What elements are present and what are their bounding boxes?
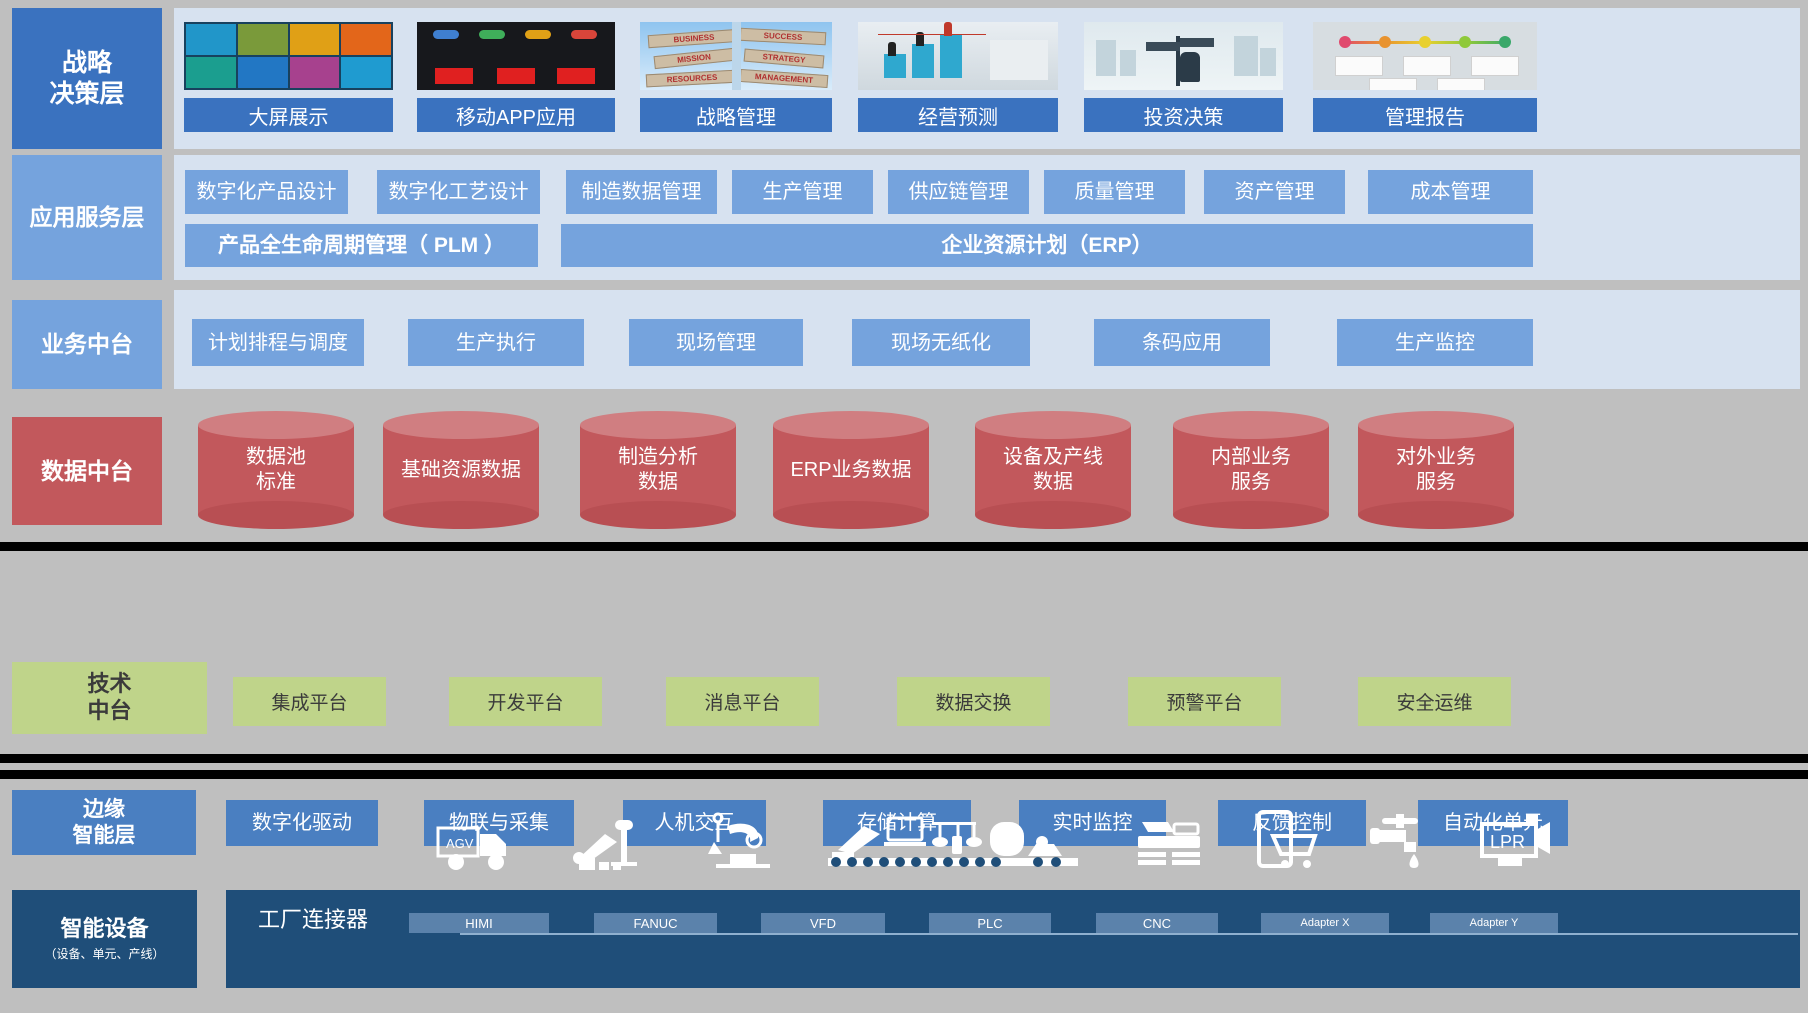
dark-dashboard-icon (417, 22, 615, 90)
signpost-sky-icon: BUSINESS SUCCESS MISSION STRATEGY RESOUR… (640, 22, 832, 90)
water-tap-icon (1370, 812, 1440, 875)
device-tab-cnc[interactable]: CNC (1096, 913, 1218, 933)
layer-label-strategy-line2: 决策层 (49, 80, 124, 108)
cyl1-l1: 基础资源数据 (401, 459, 521, 481)
data-cylinder-1-label: 基础资源数据 (383, 411, 539, 529)
strategy-card-1-label: 移动APP应用 (417, 98, 615, 132)
business-module-1[interactable]: 生产执行 (408, 319, 584, 366)
layer-label-tech-line2: 中台 (87, 698, 131, 723)
layer-label-device-sub: （设备、单元、产线） (44, 947, 164, 962)
data-cylinder-5-label: 内部业务 服务 (1173, 411, 1329, 529)
layer-label-device: 智能设备 （设备、单元、产线） (12, 890, 197, 988)
device-tab-vfd[interactable]: VFD (761, 913, 885, 933)
device-tab-plc[interactable]: PLC (929, 913, 1051, 933)
tech-module-1[interactable]: 开发平台 (449, 677, 602, 726)
data-cylinder-0[interactable]: 数据池 标准 (198, 411, 354, 529)
tech-module-0[interactable]: 集成平台 (233, 677, 386, 726)
edge-module-0[interactable]: 数字化驱动 (226, 800, 378, 846)
cyl2-l1: 制造分析 (618, 446, 698, 468)
data-cylinder-5[interactable]: 内部业务 服务 (1173, 411, 1329, 529)
business-module-5[interactable]: 生产监控 (1337, 319, 1533, 366)
device-tab-adapter-x[interactable]: Adapter X (1261, 913, 1389, 933)
application-module-3[interactable]: 生产管理 (732, 170, 873, 214)
data-cylinder-1[interactable]: 基础资源数据 (383, 411, 539, 529)
layer-label-tech: 技术 中台 (12, 662, 207, 734)
cyl4-l1: 设备及产线 (1003, 446, 1103, 468)
svg-text:LPR: LPR (1490, 832, 1525, 852)
layer-label-business: 业务中台 (12, 300, 162, 389)
layer-label-strategy-line1: 战略 (62, 49, 112, 77)
agv-truck-icon: AGV (436, 818, 518, 875)
business-module-2[interactable]: 现场管理 (629, 319, 803, 366)
application-module-7[interactable]: 成本管理 (1368, 170, 1533, 214)
production-line-icon (828, 808, 1080, 881)
device-tab-fanuc[interactable]: FANUC (594, 913, 717, 933)
strategy-card-4-label: 投资决策 (1084, 98, 1283, 132)
layer-label-edge-line2: 智能层 (73, 824, 136, 847)
welding-robot-icon (706, 812, 776, 879)
application-module-5[interactable]: 质量管理 (1044, 170, 1185, 214)
dashboard-tiles-icon (184, 22, 393, 90)
strategy-card-5-label: 管理报告 (1313, 98, 1537, 132)
layer-label-device-text: 智能设备 (60, 916, 148, 943)
roadmap-timeline-icon (1313, 22, 1537, 90)
cyl6-l1: 对外业务 (1396, 446, 1476, 468)
application-module-2[interactable]: 制造数据管理 (566, 170, 717, 214)
city-businessman-icon (1084, 22, 1283, 90)
application-module-0[interactable]: 数字化产品设计 (185, 170, 348, 214)
business-module-3[interactable]: 现场无纸化 (852, 319, 1030, 366)
cyl2-l2: 数据 (638, 471, 678, 493)
strategy-card-0-label: 大屏展示 (184, 98, 393, 132)
data-cylinder-6[interactable]: 对外业务 服务 (1358, 411, 1514, 529)
layer-label-tech-line1: 技术 (87, 671, 131, 696)
strategy-card-1[interactable]: 移动APP应用 (417, 22, 615, 132)
cyl0-l2: 标准 (256, 471, 296, 493)
tech-module-3[interactable]: 数据交换 (897, 677, 1050, 726)
layer-label-data: 数据中台 (12, 417, 162, 525)
application-module-6[interactable]: 资产管理 (1204, 170, 1345, 214)
business-module-0[interactable]: 计划排程与调度 (192, 319, 364, 366)
tech-module-2[interactable]: 消息平台 (666, 677, 819, 726)
application-platform-erp[interactable]: 企业资源计划（ERP） (561, 224, 1533, 267)
data-cylinder-3-label: ERP业务数据 (773, 411, 929, 529)
data-cylinder-4-label: 设备及产线 数据 (975, 411, 1131, 529)
cyl6-l2: 服务 (1416, 471, 1456, 493)
layer-label-data-text: 数据中台 (41, 457, 133, 485)
cyl5-l1: 内部业务 (1211, 446, 1291, 468)
strategy-card-3[interactable]: 经营预测 (858, 22, 1058, 132)
separator-top-edge (0, 770, 1808, 779)
separator-top-tech (0, 542, 1808, 551)
cyl0-l1: 数据池 (246, 446, 306, 468)
layer-label-edge: 边缘 智能层 (12, 790, 196, 855)
separator-bottom-tech (0, 754, 1808, 763)
data-cylinder-3[interactable]: ERP业务数据 (773, 411, 929, 529)
layer-label-strategy: 战略 决策层 (12, 8, 162, 149)
tech-module-5[interactable]: 安全运维 (1358, 677, 1511, 726)
application-module-4[interactable]: 供应链管理 (888, 170, 1029, 214)
application-module-1[interactable]: 数字化工艺设计 (377, 170, 540, 214)
mobile-cart-icon (1257, 810, 1323, 877)
strategy-card-2[interactable]: BUSINESS SUCCESS MISSION STRATEGY RESOUR… (640, 22, 832, 132)
data-cylinder-4[interactable]: 设备及产线 数据 (975, 411, 1131, 529)
data-cylinder-2-label: 制造分析 数据 (580, 411, 736, 529)
data-cylinder-6-label: 对外业务 服务 (1358, 411, 1514, 529)
layer-label-edge-line1: 边缘 (83, 798, 125, 821)
strategy-card-4[interactable]: 投资决策 (1084, 22, 1283, 132)
strategy-card-3-label: 经营预测 (858, 98, 1058, 132)
data-cylinder-2[interactable]: 制造分析 数据 (580, 411, 736, 529)
layer-label-application-text: 应用服务层 (30, 203, 145, 231)
device-connector-panel (226, 890, 1800, 988)
cyl4-l2: 数据 (1033, 471, 1073, 493)
data-cylinder-0-label: 数据池 标准 (198, 411, 354, 529)
forecast-pillars-icon (858, 22, 1058, 90)
factory-connector-title: 工厂连接器 (258, 902, 368, 934)
strategy-card-2-label: 战略管理 (640, 98, 832, 132)
cnc-machine-icon (1134, 818, 1204, 875)
layer-label-application: 应用服务层 (12, 155, 162, 280)
cyl3-l1: ERP业务数据 (790, 459, 911, 481)
strategy-card-0[interactable]: 大屏展示 (184, 22, 393, 132)
svg-text:AGV: AGV (446, 836, 474, 851)
device-tab-adapter-y[interactable]: Adapter Y (1430, 913, 1558, 933)
architecture-diagram: 战略 决策层 大屏展示 移动 (0, 0, 1808, 1013)
strategy-card-5[interactable]: 管理报告 (1313, 22, 1537, 132)
application-platform-plm[interactable]: 产品全生命周期管理（ PLM ） (185, 224, 538, 267)
connector-rail (460, 933, 1798, 935)
tech-module-4[interactable]: 预警平台 (1128, 677, 1281, 726)
business-module-4[interactable]: 条码应用 (1094, 319, 1270, 366)
robot-arm-icon (571, 818, 651, 879)
device-tab-himi[interactable]: HIMI (409, 913, 549, 933)
cyl5-l2: 服务 (1231, 471, 1271, 493)
lpr-camera-icon: LPR (1478, 812, 1554, 875)
layer-label-business-text: 业务中台 (41, 330, 133, 358)
